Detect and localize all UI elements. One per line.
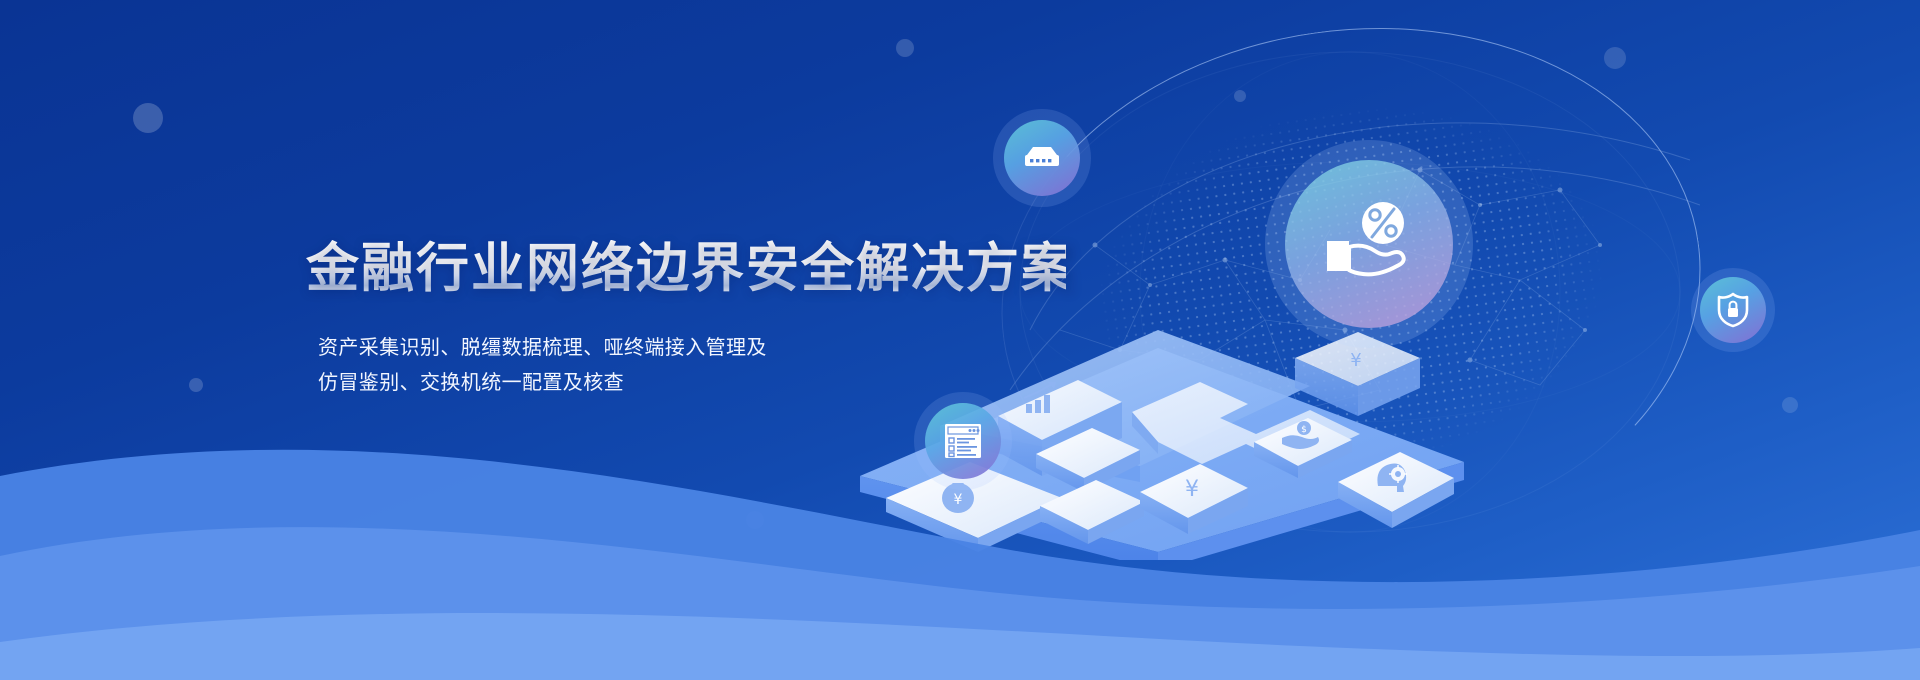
- browser-form-icon: [925, 403, 1001, 479]
- financial-security-hero-banner: ¥ ¥: [0, 0, 1920, 680]
- hero-copy-block: 金融行业网络边界安全解决方案 资产采集识别、脱缰数据梳理、哑终端接入管理及 仿冒…: [306, 240, 1066, 401]
- page-title: 金融行业网络边界安全解决方案: [306, 240, 1066, 297]
- decorative-dot: [896, 39, 914, 57]
- subtitle-line-1: 资产采集识别、脱缰数据梳理、哑终端接入管理及: [318, 331, 1066, 366]
- decorative-dot: [133, 103, 163, 133]
- hand-percent-coin-icon: [1285, 160, 1453, 328]
- svg-text:¥: ¥: [1350, 350, 1361, 371]
- subtitle-line-2: 仿冒鉴别、交换机统一配置及核查: [318, 366, 1066, 401]
- shield-glyph: [1716, 291, 1750, 329]
- router-glyph: [1021, 143, 1063, 173]
- page-subtitle: 资产采集识别、脱缰数据梳理、哑终端接入管理及 仿冒鉴别、交换机统一配置及核查: [318, 331, 1066, 401]
- shield-lock-icon: [1700, 277, 1766, 343]
- form-glyph: [943, 422, 983, 460]
- router-device-icon: [1004, 120, 1080, 196]
- hand-percent-glyph: [1317, 201, 1421, 287]
